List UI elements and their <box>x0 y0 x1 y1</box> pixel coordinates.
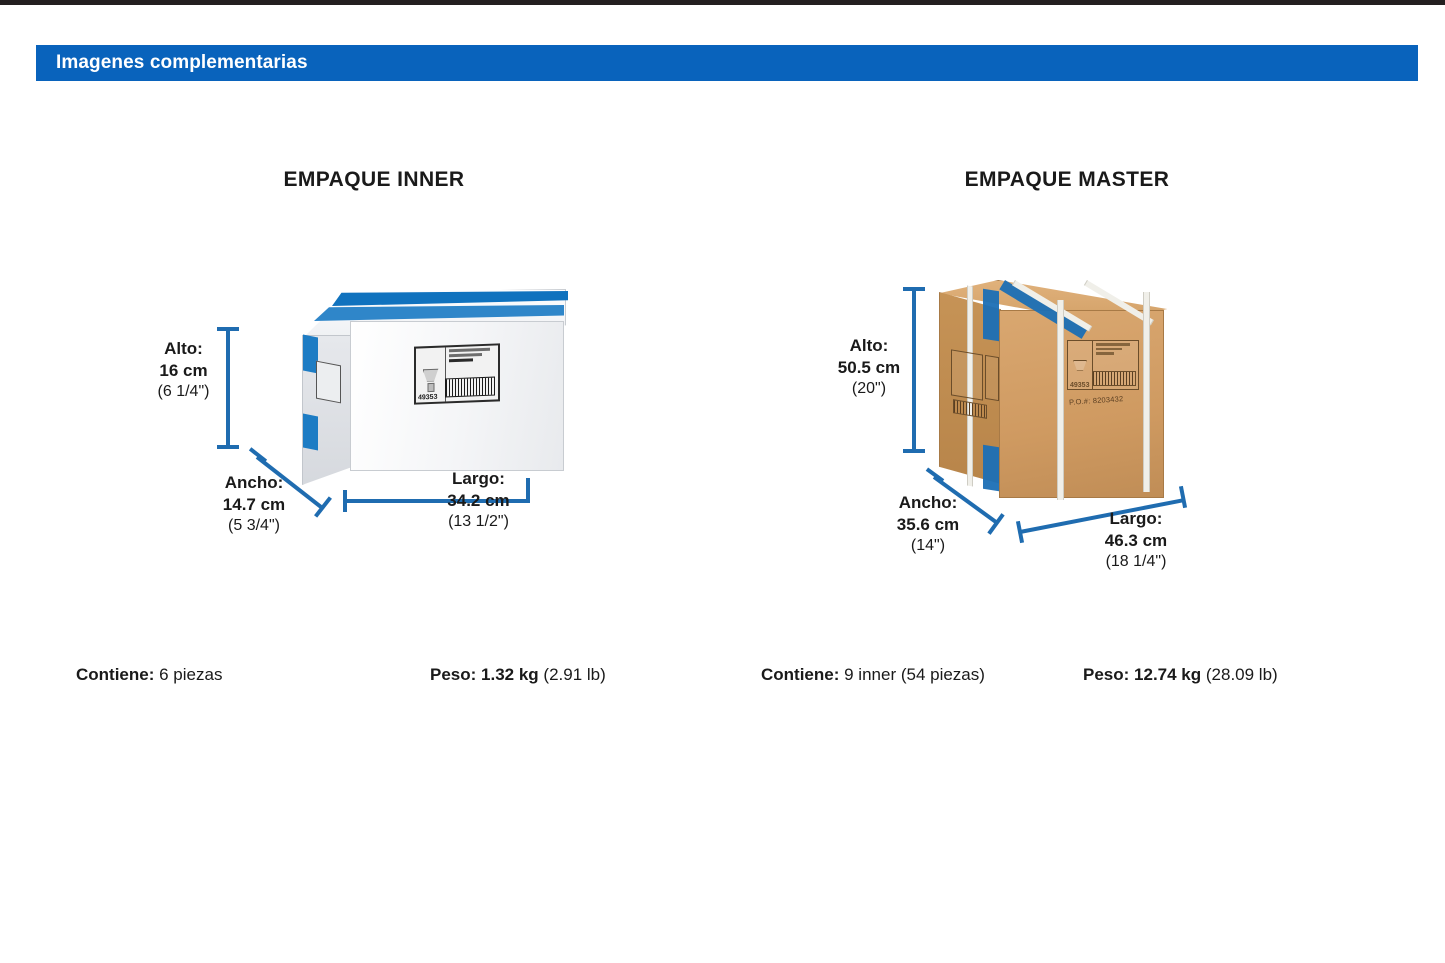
ancho-dimension-inner: Ancho: 14.7 cm (5 3/4") <box>206 472 302 536</box>
largo-dimension-master: Largo: 46.3 cm (18 1/4") <box>1081 508 1191 572</box>
carton-side-label <box>951 349 983 400</box>
product-sku: 49353 <box>1070 382 1089 389</box>
package-title-inner: EMPAQUE INNER <box>29 168 719 192</box>
alto-dimension-line-inner <box>226 327 230 449</box>
largo-dimension-inner: Largo: 34.2 cm (13 1/2") <box>426 468 531 532</box>
product-label: 49353 <box>1067 340 1139 390</box>
alto-dimension-line-master <box>912 287 916 453</box>
ancho-dimension-cap-end <box>314 496 332 517</box>
weight-imperial: (2.91 lb) <box>543 665 605 684</box>
barcode-icon <box>1092 371 1136 386</box>
ancho-dimension-master: Ancho: 35.6 cm (14") <box>878 492 978 556</box>
weight-info-inner: Peso: 1.32 kg (2.91 lb) <box>430 665 606 685</box>
alto-dimension-cap-top <box>217 327 239 331</box>
contains-info-inner: Contiene: 6 piezas <box>76 665 222 685</box>
alto-dimension-cap-top <box>903 287 925 291</box>
complementary-images-page: Imagenes complementarias EMPAQUE INNER <box>0 0 1445 963</box>
alto-dimension-cap-bottom <box>217 445 239 449</box>
strapping-band-front <box>1057 300 1064 500</box>
weight-info-master: Peso: 12.74 kg (28.09 lb) <box>1083 665 1278 685</box>
carton-side-label <box>316 361 341 404</box>
alto-dimension-cap-bottom <box>903 449 925 453</box>
alto-dimension-master: Alto: 50.5 cm (20") <box>828 335 910 399</box>
barcode-icon <box>445 377 495 398</box>
contains-info-master: Contiene: 9 inner (54 piezas) <box>761 665 985 685</box>
inner-carton-illustration: 49353 <box>294 283 584 493</box>
weight-imperial: (28.09 lb) <box>1206 665 1278 684</box>
master-carton-illustration: 49353 P.O.#: 8203432 <box>929 278 1209 508</box>
carton-side-label <box>985 355 999 401</box>
blue-tape-edge <box>983 289 999 342</box>
package-panel-inner: EMPAQUE INNER 49353 <box>36 120 726 720</box>
page-title: Imagenes complementarias <box>36 52 308 74</box>
blue-tape-edge <box>983 445 999 492</box>
product-sku: 49353 <box>418 394 437 402</box>
section-header-bar: Imagenes complementarias <box>36 45 1418 81</box>
weight-value: 12.74 kg <box>1134 665 1201 684</box>
weight-label: Peso: <box>430 665 476 684</box>
top-edge-strip <box>0 0 1445 5</box>
weight-value: 1.32 kg <box>481 665 539 684</box>
alto-dimension-inner: Alto: 16 cm (6 1/4") <box>146 338 221 402</box>
strapping-band-front <box>1143 292 1150 492</box>
blue-tape-side <box>303 414 318 451</box>
contains-label: Contiene: <box>761 665 839 684</box>
contains-label: Contiene: <box>76 665 154 684</box>
contains-value: 6 piezas <box>159 665 222 684</box>
product-label: 49353 <box>414 343 500 404</box>
package-panel-master: EMPAQUE MASTER <box>726 120 1416 720</box>
contains-value: 9 inner (54 piezas) <box>844 665 985 684</box>
largo-dimension-cap-left <box>343 490 347 512</box>
package-title-master: EMPAQUE MASTER <box>722 168 1412 192</box>
weight-label: Peso: <box>1083 665 1129 684</box>
